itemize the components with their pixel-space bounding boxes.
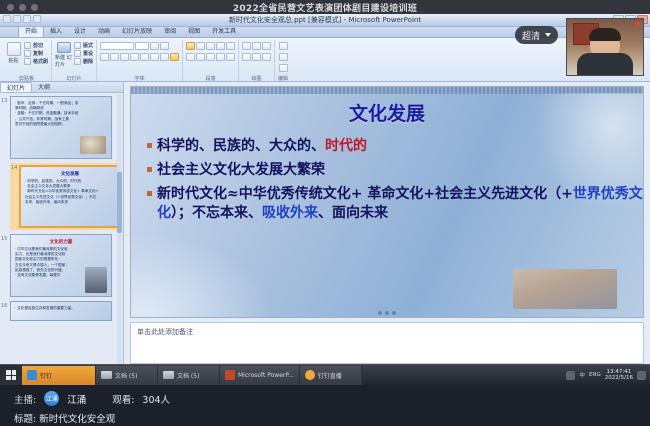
underline-button[interactable]: [120, 53, 129, 61]
close-window-dot[interactable]: [7, 4, 14, 11]
format-painter-label: 格式刷: [33, 58, 48, 65]
taskbar-item-explorer-2[interactable]: 文档 (5): [158, 366, 220, 385]
stream-title-label: 标题:: [14, 414, 36, 425]
magnifier-photo-icon: [80, 136, 106, 154]
player-title-bar: 2022全省民营文艺表演团体剧目建设培训班: [0, 0, 650, 14]
undo-icon[interactable]: [23, 15, 31, 23]
bold-button[interactable]: [100, 53, 109, 61]
drawing-group-label: 绘图: [252, 75, 262, 82]
ribbon-tab-developer[interactable]: 开发工具: [206, 26, 242, 37]
new-slide-label: 新建 幻灯片: [55, 54, 72, 68]
presenter-hair: [589, 28, 621, 41]
thumbnail-line: 意识不到的陷阱是最大的陷阱。: [15, 122, 107, 127]
shape-arrow-button[interactable]: [252, 42, 261, 50]
font-size-combo[interactable]: [135, 42, 149, 50]
reset-button[interactable]: 重设: [74, 50, 93, 57]
bullet-marker-icon: [147, 167, 152, 172]
new-slide-icon: [57, 42, 71, 53]
thumbnail-line: 本来、吸收外来、面向未来: [25, 200, 115, 205]
slide-bullet-2: 社会主义文化大发展大繁荣: [147, 161, 643, 180]
paragraph-group-label: 段落: [206, 75, 216, 82]
taskbar-item-powerpoint[interactable]: Microsoft PowerP...: [220, 366, 300, 385]
windows-start-icon: [6, 370, 16, 380]
taskbar-item-dingtalk[interactable]: 钉钉: [22, 366, 96, 385]
office-button-icon[interactable]: [3, 15, 11, 23]
shadow-button[interactable]: [130, 53, 139, 61]
cut-icon: [24, 42, 31, 49]
ribbon-group-editing: 编辑: [275, 40, 291, 82]
taskbar-item-label: 钉钉: [40, 371, 52, 380]
shape-outline-button[interactable]: [252, 53, 261, 61]
title-row: 标题: 新时代文化安全观: [14, 411, 636, 425]
align-left-button[interactable]: [186, 53, 195, 61]
thumbnail-slide-15[interactable]: 15 文化的力量 · 中华文化是我们最深厚的文化软 实力，也是我们最深厚的文化软…: [10, 234, 121, 297]
format-painter-icon: [24, 58, 31, 65]
slide-bullet-1: 科学的、民族的、大众的、时代的: [147, 137, 643, 156]
ribbon-group-drawing: 绘图: [239, 40, 275, 82]
show-desktop-icon[interactable]: [637, 371, 646, 380]
taskbar-item-label: Microsoft PowerP...: [238, 372, 294, 379]
numbering-button[interactable]: [196, 42, 205, 50]
viewers-count: 304人: [142, 392, 170, 406]
taskbar-item-label: 文档 (5): [177, 371, 199, 380]
slide-background-glow-2: [131, 227, 281, 317]
thumbnail-scrollbar[interactable]: [117, 95, 122, 370]
bullet-marker-icon: [147, 143, 152, 148]
reset-icon: [74, 50, 81, 57]
shape-rectangle-button[interactable]: [242, 42, 251, 50]
thumbnail-preview: 文化的力量 · 中华文化是我们最深厚的文化软 实力，也是我们最深厚的文化软 国家…: [10, 234, 112, 297]
select-button[interactable]: [279, 64, 288, 72]
paste-icon: [7, 42, 21, 56]
delete-slide-button[interactable]: 删除: [74, 58, 93, 65]
ribbon-group-slides: 新建 幻灯片 版式 重设 删除 幻灯片: [52, 40, 97, 82]
nav-dot[interactable]: [385, 311, 389, 315]
ribbon-tab-insert[interactable]: 插入: [44, 26, 68, 37]
windows-taskbar: 钉钉 文档 (5) 文档 (5) Microsoft PowerP... 钉钉直…: [0, 364, 650, 385]
clipboard-group-label: 剪贴板: [19, 75, 34, 82]
editing-group-label: 编辑: [278, 75, 288, 82]
copy-icon: [24, 50, 31, 57]
powerpoint-title-bar: 新时代文化安全观总.ppt [兼容模式] - Microsoft PowerPo…: [0, 14, 650, 27]
bullets-button[interactable]: [186, 42, 195, 50]
minimize-window-dot[interactable]: [19, 4, 26, 11]
presenter-body: [577, 53, 633, 75]
thumbnail-preview: · 股市、证券：千亿时期、一般商品；非 常时期，战略物资 · 金融：千亿时期，资…: [10, 96, 112, 159]
slide-bullet-3: 新时代文化≈中华优秀传统文化+ 革命文化+社会主义先进文化（+世界优秀文化）；不…: [147, 185, 643, 223]
dingtalk-live-icon: [305, 370, 315, 380]
slide-navigation-dots[interactable]: [378, 311, 396, 315]
window-controls[interactable]: [0, 4, 38, 11]
notes-placeholder[interactable]: 单击此处添加备注: [130, 322, 644, 364]
font-name-combo[interactable]: [100, 42, 134, 50]
thumbnail-list[interactable]: 13 · 股市、证券：千亿时期、一般商品；非 常时期，战略物资 · 金融：千亿时…: [0, 93, 123, 372]
shared-screen-area: 新时代文化安全观总.ppt [兼容模式] - Microsoft PowerPo…: [0, 14, 650, 385]
taskbar-item-dingtalk-live[interactable]: 钉钉直播: [300, 366, 362, 385]
font-group-label: 字体: [135, 75, 145, 82]
increase-font-size-button[interactable]: [150, 42, 159, 50]
thumbnail-number: 15: [1, 236, 7, 242]
layout-button[interactable]: 版式: [74, 42, 93, 49]
slide-editing-pane: 文化发展 科学的、民族的、大众的、时代的 社会主义文化大发展大繁荣 新时: [124, 82, 650, 372]
slide-bullet-1-text: 科学的、民族的、大众的、时代的: [157, 137, 367, 156]
align-center-button[interactable]: [196, 53, 205, 61]
slide-bullet-2-text: 社会主义文化大发展大繁荣: [157, 161, 325, 180]
live-stream-app: 2022全省民营文艺表演团体剧目建设培训班 新时代文化安全观总.ppt [兼容模…: [0, 0, 650, 426]
thumbnail-slide-13[interactable]: 13 · 股市、证券：千亿时期、一般商品；非 常时期，战略物资 · 金融：千亿时…: [10, 96, 121, 159]
thumbnail-title: 文化发展: [25, 171, 115, 177]
font-color-button[interactable]: [170, 53, 179, 61]
network-icon[interactable]: [566, 371, 575, 380]
italic-button[interactable]: [110, 53, 119, 61]
stream-info-bar: 主播: 江涌 江涌 观看: 304人 标题: 新时代文化安全观: [0, 385, 650, 426]
folder-icon: [101, 371, 112, 379]
ribbon-group-clipboard: 粘贴 剪切 复制 格式刷 剪贴板: [2, 40, 52, 82]
cut-label: 剪切: [33, 42, 43, 49]
slide-title: 文化发展: [131, 99, 643, 126]
new-slide-button[interactable]: 新建 幻灯片: [55, 42, 72, 68]
thumbnail-number: 16: [1, 303, 7, 309]
host-name: 江涌: [67, 392, 86, 406]
avatar[interactable]: 江涌: [44, 391, 59, 406]
decrease-indent-button[interactable]: [206, 42, 215, 50]
shape-effects-button[interactable]: [262, 53, 271, 61]
reset-label: 重设: [83, 50, 93, 57]
ribbon-tab-slideshow[interactable]: 幻灯片放映: [116, 26, 158, 37]
delete-icon: [74, 58, 81, 65]
save-icon[interactable]: [13, 15, 21, 23]
system-tray[interactable]: 中 ENG 13:47:41 2022/5/16: [566, 369, 650, 381]
player-window-title: 2022全省民营文艺表演团体剧目建设培训班: [0, 0, 650, 14]
paste-button[interactable]: 粘贴: [5, 42, 22, 68]
slide-bullet-3-text: 新时代文化≈中华优秀传统文化+ 革命文化+社会主义先进文化（+世界优秀文化）；不…: [157, 185, 643, 223]
replace-button[interactable]: [279, 53, 288, 61]
stream-title-value: 新时代文化安全观: [39, 414, 115, 425]
increase-indent-button[interactable]: [216, 42, 225, 50]
character-spacing-button[interactable]: [150, 53, 159, 61]
speaker-figure-icon: [85, 267, 107, 293]
viewers-label: 观看:: [112, 392, 134, 406]
thumbnail-number: 13: [1, 98, 7, 104]
taskbar-item-label: 文档 (5): [115, 371, 137, 380]
decrease-font-size-button[interactable]: [160, 42, 169, 50]
align-right-button[interactable]: [206, 53, 215, 61]
ribbon-group-paragraph: 段落: [183, 40, 239, 82]
host-row: 主播: 江涌 江涌 观看: 304人: [14, 391, 636, 406]
recording-indicator-icon: [635, 21, 640, 26]
nav-dot[interactable]: [378, 311, 382, 315]
start-button[interactable]: [0, 365, 22, 386]
slide-body-text: 科学的、民族的、大众的、时代的 社会主义文化大发展大繁荣 新时代文化≈中华优秀传…: [147, 137, 643, 223]
taskbar-clock[interactable]: 13:47:41 2022/5/16: [605, 369, 633, 381]
slide-thumbnail-pane: 幻灯片 大纲 13 · 股市、证券：千亿时期、一般商品；非 常时期，战略物资 ·…: [0, 82, 124, 372]
paste-label: 粘贴: [8, 57, 18, 64]
ribbon-tab-animation[interactable]: 动画: [92, 26, 116, 37]
ribbon-tab-view[interactable]: 视图: [182, 26, 206, 37]
tab-outline[interactable]: 大纲: [32, 82, 56, 92]
change-case-button[interactable]: [160, 53, 169, 61]
slide-photo-decoration: [513, 269, 617, 309]
ribbon-group-font: 字体: [97, 40, 183, 82]
shape-fill-button[interactable]: [242, 53, 251, 61]
maximize-window-dot[interactable]: [31, 4, 38, 11]
thumbnail-preview: · 文化是民族生存和发展的重要力量。: [10, 301, 112, 321]
thumbnail-title: 文化的力量: [15, 239, 107, 245]
powerpoint-document-title: 新时代文化安全观总.ppt [兼容模式] - Microsoft PowerPo…: [229, 15, 421, 25]
format-painter-button[interactable]: 格式刷: [24, 58, 48, 65]
copy-button[interactable]: 复制: [24, 50, 48, 57]
taskbar-item-explorer-1[interactable]: 文档 (5): [96, 366, 158, 385]
dingtalk-icon: [27, 370, 37, 380]
copy-label: 复制: [33, 50, 43, 57]
quality-selector[interactable]: 超清: [515, 26, 558, 44]
nav-dot[interactable]: [392, 311, 396, 315]
folder-icon: [163, 371, 174, 379]
current-slide[interactable]: 文化发展 科学的、民族的、大众的、时代的 社会主义文化大发展大繁荣 新时: [130, 86, 644, 318]
tab-slides[interactable]: 幻灯片: [0, 82, 32, 92]
bullet-marker-icon: [147, 191, 152, 196]
thumbnail-scroll-thumb[interactable]: [117, 172, 122, 233]
chevron-down-icon: [545, 33, 551, 37]
thumbnail-slide-14[interactable]: 14 文化发展 · 科学的、民族的、大众的、时代的 · 社会主义文化大发展大繁荣…: [10, 163, 121, 230]
redo-icon[interactable]: [33, 15, 41, 23]
thumbnail-pane-tabs[interactable]: 幻灯片 大纲: [0, 82, 123, 93]
quality-label: 超清: [522, 29, 540, 42]
slides-group-label: 幻灯片: [67, 75, 82, 82]
taskbar-item-label: 钉钉直播: [318, 371, 342, 380]
ribbon-tab-design[interactable]: 设计: [68, 26, 92, 37]
powerpoint-icon: [225, 370, 235, 380]
ribbon-tab-review[interactable]: 审阅: [158, 26, 182, 37]
delete-label: 删除: [83, 58, 93, 65]
host-label: 主播:: [14, 392, 36, 406]
input-method-indicator[interactable]: 中: [579, 371, 585, 379]
layout-icon: [74, 42, 81, 49]
thumbnail-line: · 文化是民族生存和发展的重要力量。: [15, 306, 107, 311]
language-indicator[interactable]: ENG: [589, 372, 601, 378]
layout-label: 版式: [83, 42, 93, 49]
thumbnail-number: 14: [11, 165, 17, 171]
clock-date: 2022/5/16: [605, 375, 633, 381]
presenter-camera-view[interactable]: [566, 18, 644, 76]
strikethrough-button[interactable]: [140, 53, 149, 61]
thumbnail-preview: 文化发展 · 科学的、民族的、大众的、时代的 · 社会主义文化大发展大繁荣 · …: [19, 165, 121, 228]
shape-gallery-button[interactable]: [262, 42, 271, 50]
ribbon-content[interactable]: 粘贴 剪切 复制 格式刷 剪贴板 新建 幻灯片: [0, 38, 650, 82]
justify-button[interactable]: [216, 53, 225, 61]
quick-access-toolbar[interactable]: [3, 15, 41, 23]
find-button[interactable]: [279, 42, 288, 50]
thumbnail-slide-16[interactable]: 16 · 文化是民族生存和发展的重要力量。: [10, 301, 121, 321]
line-spacing-button[interactable]: [226, 42, 235, 50]
columns-button[interactable]: [226, 53, 235, 61]
cut-button[interactable]: 剪切: [24, 42, 48, 49]
powerpoint-workspace: 幻灯片 大纲 13 · 股市、证券：千亿时期、一般商品；非 常时期，战略物资 ·…: [0, 82, 650, 372]
